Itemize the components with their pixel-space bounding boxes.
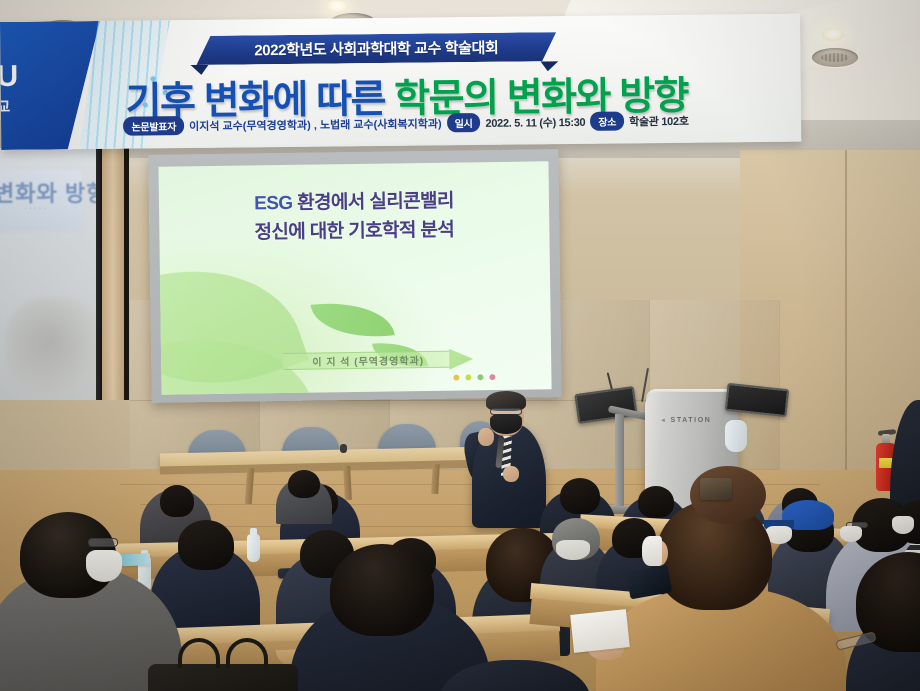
speaker-hand xyxy=(503,466,519,482)
presenter-names: 이지석 교수(무역경영학과) , 노법래 교수(사회복지학과) xyxy=(189,115,442,134)
reflection-text: 변화와 방향 xyxy=(0,176,107,208)
wall-seam xyxy=(845,150,847,480)
slide-title: ESG 환경에서 실리콘밸리 정신에 대한 기호학적 분석 xyxy=(159,185,550,249)
slide-title-esg: ESG xyxy=(254,193,293,215)
conference-photo: 변화와 방향 · · · · · MU 대학교 2022학년도 사회과학대학 교… xyxy=(0,0,920,691)
ceiling-downlight-icon xyxy=(326,0,348,13)
face-mask-icon xyxy=(86,550,122,582)
slide-presenter-label: 이 지 석 (무역경영학과) xyxy=(312,352,424,369)
glasses-icon xyxy=(88,538,118,547)
podium-post xyxy=(615,414,624,510)
datetime-pill: 일시 xyxy=(447,113,481,132)
audience-head xyxy=(560,478,600,514)
slide-title-line1: 환경에서 실리콘밸리 xyxy=(292,191,454,214)
slide-presenter-banner: 이 지 석 (무역경영학과) xyxy=(283,351,453,370)
podium-brand-label: STATION xyxy=(660,417,711,424)
ceiling-speaker-icon xyxy=(812,48,858,67)
audience-head xyxy=(288,470,320,498)
table-microphone-icon xyxy=(340,444,347,453)
banner-ribbon: 2022학년도 사회과학대학 교수 학술대회 xyxy=(196,32,556,65)
wood-column xyxy=(102,148,126,400)
dot-icon xyxy=(453,375,459,381)
foreground-head xyxy=(330,544,434,636)
reflection-subtext: · · · · · xyxy=(24,204,46,213)
face-mask-icon xyxy=(642,536,662,566)
projection-screen: ESG 환경에서 실리콘밸리 정신에 대한 기호학적 분석 이 지 석 (무역경… xyxy=(148,149,561,403)
presentation-slide: ESG 환경에서 실리콘밸리 정신에 대한 기호학적 분석 이 지 석 (무역경… xyxy=(158,161,551,394)
ceiling-downlight-icon xyxy=(822,28,844,41)
conference-banner: MU 대학교 2022학년도 사회과학대학 교수 학술대회 기후 변화에 따른 … xyxy=(0,14,801,150)
venue-pill: 장소 xyxy=(590,111,624,130)
face-mask-icon xyxy=(490,414,522,434)
slide-banner-tip xyxy=(449,348,473,369)
podium-bottle xyxy=(725,420,747,452)
dot-icon xyxy=(489,374,495,380)
banner-ribbon-text: 2022학년도 사회과학대학 교수 학술대회 xyxy=(254,37,498,61)
datetime-value: 2022. 5. 11 (수) 15:30 xyxy=(485,113,585,130)
dot-icon xyxy=(465,374,471,380)
glass-frame-edge xyxy=(124,148,129,400)
leaf-graphic-icon xyxy=(311,295,395,344)
handbag xyxy=(148,664,298,691)
audience-head xyxy=(638,486,674,518)
face-mask-icon xyxy=(840,526,862,542)
university-logo-sub: 대학교 xyxy=(0,96,10,117)
paper-sheet xyxy=(570,609,630,653)
face-mask-icon xyxy=(892,516,914,534)
slide-decoration-dots xyxy=(453,374,495,381)
venue-value: 학술관 102호 xyxy=(629,112,689,129)
reflection-blur-blob xyxy=(6,298,102,394)
presenter-pill: 논문발표자 xyxy=(123,116,184,136)
hair-clip xyxy=(700,478,732,500)
audience-head xyxy=(178,520,234,570)
face-mask-icon xyxy=(556,540,590,560)
audience-head xyxy=(160,485,194,517)
university-logo-mark: MU xyxy=(0,60,17,94)
water-bottle xyxy=(247,534,260,562)
slide-title-line2: 정신에 대한 기호학적 분석 xyxy=(159,215,549,250)
dot-icon xyxy=(477,374,483,380)
speaker-hand xyxy=(478,428,494,446)
